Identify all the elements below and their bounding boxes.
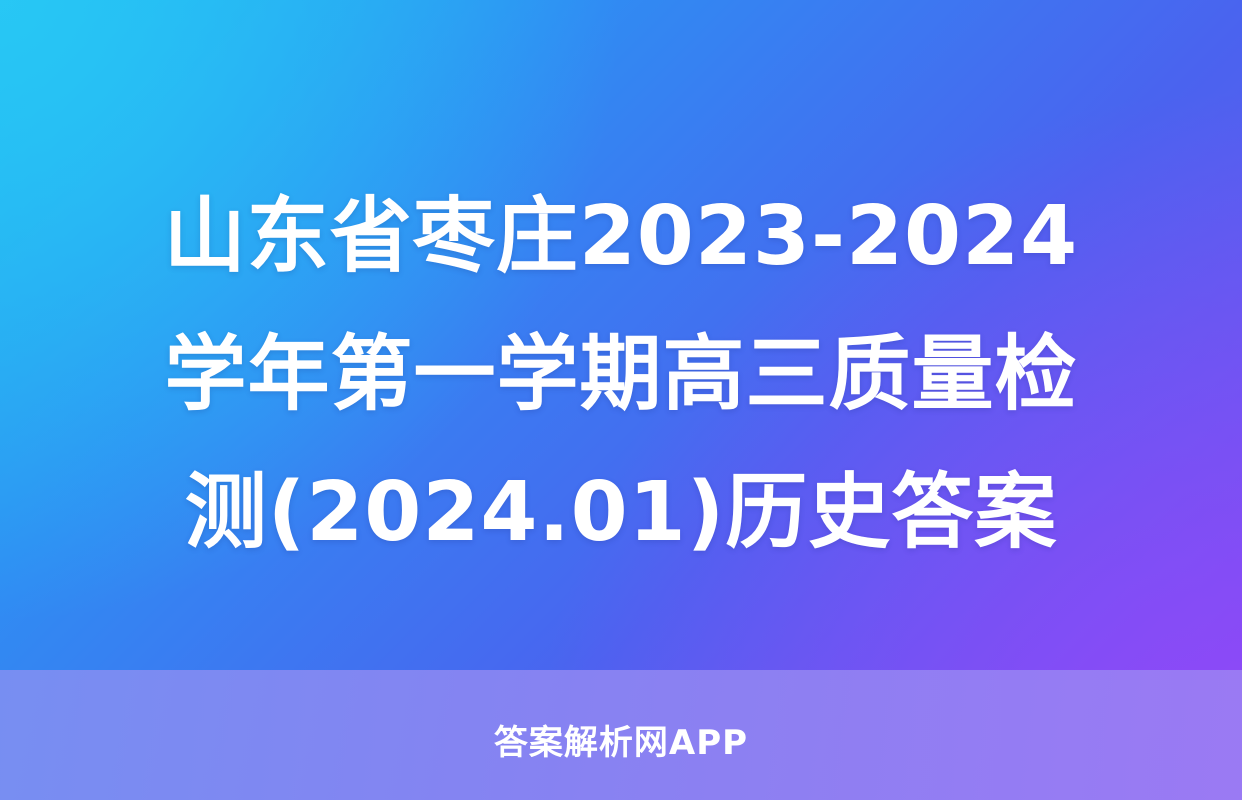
poster-title: 山东省枣庄2023-2024 学年第一学期高三质量检 测(2024.01)历史答… (0, 168, 1242, 582)
footer-watermark: 答案解析网APP (0, 715, 1242, 764)
title-line-3: 测(2024.01)历史答案 (60, 444, 1182, 582)
title-line-2: 学年第一学期高三质量检 (60, 306, 1182, 444)
title-line-1: 山东省枣庄2023-2024 (60, 168, 1182, 306)
poster-container: 山东省枣庄2023-2024 学年第一学期高三质量检 测(2024.01)历史答… (0, 0, 1242, 800)
